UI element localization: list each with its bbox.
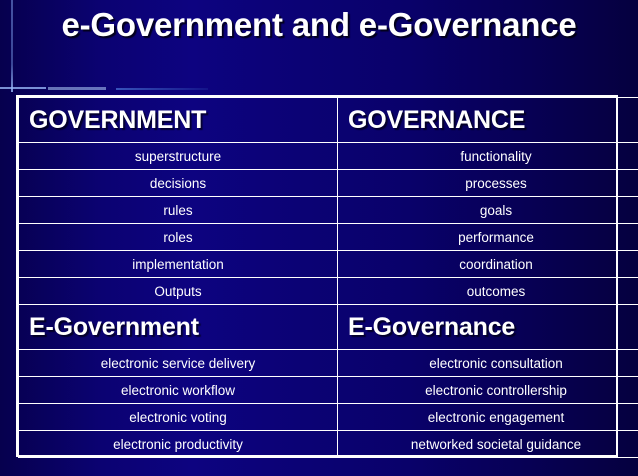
table-cell-left: electronic workflow [19, 377, 338, 404]
table-cell-right: processes [338, 170, 638, 197]
table-cell-right: electronic engagement [338, 404, 638, 431]
decorative-horizontal-line [0, 87, 46, 89]
table-cell-left: roles [19, 224, 338, 251]
table-row: rolesperformance [19, 224, 638, 251]
table-row: Outputsoutcomes [19, 278, 638, 305]
table-cell-right: functionality [338, 143, 638, 170]
table-cell-left: implementation [19, 251, 338, 278]
table-section-header-row: GOVERNMENTGOVERNANCE [19, 98, 638, 143]
table-cell-right: coordination [338, 251, 638, 278]
table-row: electronic productivitynetworked societa… [19, 431, 638, 458]
decorative-horizontal-line-fade [116, 88, 208, 90]
table-cell-right: outcomes [338, 278, 638, 305]
decorative-horizontal-line-segment [48, 87, 106, 90]
section-header-cell-left: E-Government [19, 305, 338, 350]
section-header-cell-left: GOVERNMENT [19, 98, 338, 143]
table-cell-left: decisions [19, 170, 338, 197]
table-row: electronic service deliveryelectronic co… [19, 350, 638, 377]
table-section-header-row: E-GovernmentE-Governance [19, 305, 638, 350]
table-cell-left: electronic productivity [19, 431, 338, 458]
table-cell-left: electronic voting [19, 404, 338, 431]
table-cell-right: goals [338, 197, 638, 224]
table-row: implementationcoordination [19, 251, 638, 278]
table-cell-left: superstructure [19, 143, 338, 170]
slide-canvas: e-Government and e-Governance GOVERNMENT… [0, 0, 638, 476]
table-row: electronic workflowelectronic controller… [19, 377, 638, 404]
table-cell-right: electronic controllership [338, 377, 638, 404]
table-row: electronic votingelectronic engagement [19, 404, 638, 431]
table-row: rulesgoals [19, 197, 638, 224]
table-row: superstructurefunctionality [19, 143, 638, 170]
section-header-cell-right: E-Governance [338, 305, 638, 350]
table-row: decisionsprocesses [19, 170, 638, 197]
section-header-cell-right: GOVERNANCE [338, 98, 638, 143]
table-cell-right: networked societal guidance [338, 431, 638, 458]
table-cell-left: rules [19, 197, 338, 224]
table-cell-right: electronic consultation [338, 350, 638, 377]
slide-title: e-Government and e-Governance [0, 6, 638, 44]
comparison-table: GOVERNMENTGOVERNANCEsuperstructurefuncti… [16, 95, 618, 457]
table-cell-left: Outputs [19, 278, 338, 305]
table-cell-left: electronic service delivery [19, 350, 338, 377]
table-cell-right: performance [338, 224, 638, 251]
